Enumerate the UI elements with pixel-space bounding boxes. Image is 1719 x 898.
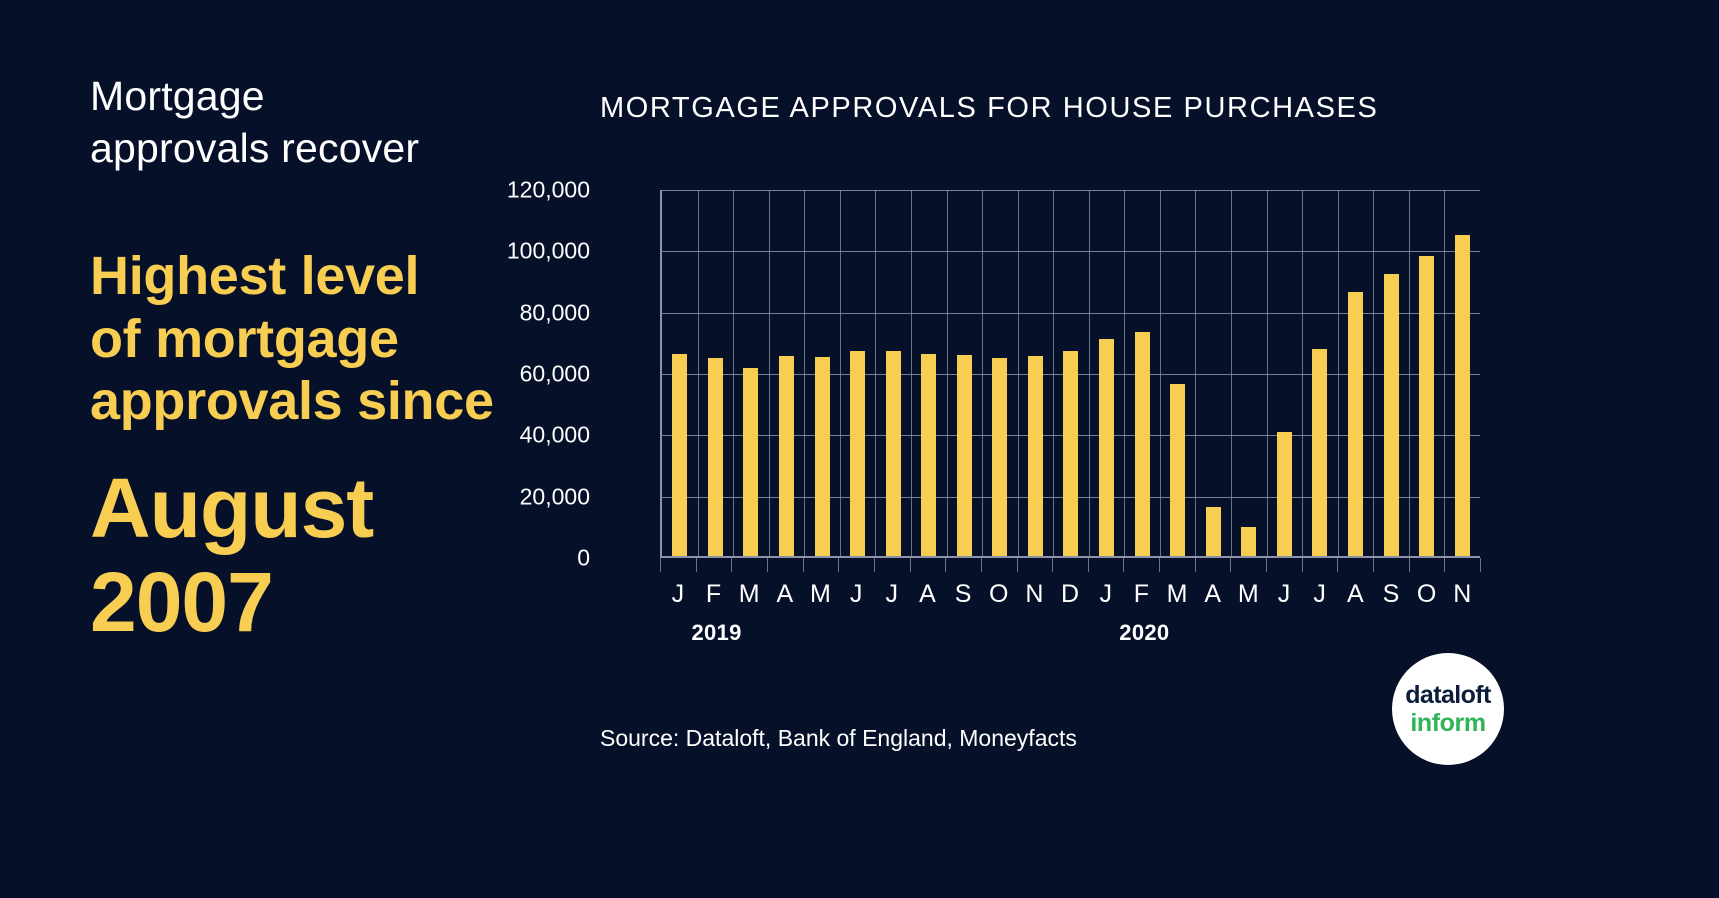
bar: [672, 354, 687, 556]
x-axis-year-label: 2020: [1119, 620, 1169, 646]
bar: [1241, 527, 1256, 556]
x-axis-month-label: D: [1052, 580, 1088, 614]
y-axis-tick-label: 40,000: [520, 422, 590, 449]
x-axis-month-label: S: [1373, 580, 1409, 614]
bar-slot: [1302, 190, 1338, 556]
bar: [992, 358, 1007, 556]
x-axis-tick: [1409, 558, 1410, 572]
x-axis-month-label: F: [696, 580, 732, 614]
x-axis-tick: [838, 558, 839, 572]
bar: [921, 354, 936, 556]
x-axis-tick: [1195, 558, 1196, 572]
infographic-root: Mortgage approvals recover Highest level…: [0, 0, 1719, 898]
kicker-line-1: Mortgage: [90, 70, 560, 122]
x-axis-month-label: A: [767, 580, 803, 614]
bar-slot: [769, 190, 805, 556]
x-axis-tick: [767, 558, 768, 572]
bar-slot: [982, 190, 1018, 556]
chart-plot-area: 120,000100,00080,00060,00040,00020,0000 …: [600, 190, 1480, 570]
x-axis-tick: [1266, 558, 1267, 572]
bar-slot: [875, 190, 911, 556]
x-axis-tick: [1480, 558, 1481, 572]
bar-slot: [1124, 190, 1160, 556]
x-axis-month-label: J: [660, 580, 696, 614]
bar-slot: [1231, 190, 1267, 556]
x-axis-month-label: J: [1088, 580, 1124, 614]
x-axis-year-labels: 20192020: [660, 620, 1480, 652]
x-axis-month-label: M: [1231, 580, 1267, 614]
bar-slot: [1409, 190, 1445, 556]
bar: [957, 355, 972, 556]
x-axis-tick: [1444, 558, 1445, 572]
bar: [1135, 332, 1150, 556]
y-axis-tick-label: 120,000: [507, 177, 590, 204]
bar-slot: [1267, 190, 1303, 556]
y-axis-tick-label: 60,000: [520, 361, 590, 388]
bar: [779, 356, 794, 556]
x-axis-month-label: M: [803, 580, 839, 614]
y-axis-tick-label: 0: [577, 545, 590, 572]
x-axis-month-label: O: [981, 580, 1017, 614]
bar: [1170, 384, 1185, 556]
x-axis-month-label: S: [945, 580, 981, 614]
bar-slot: [1018, 190, 1054, 556]
bar: [1099, 339, 1114, 556]
big-date-year: 2007: [90, 555, 560, 649]
dataloft-inform-logo: dataloft inform: [1392, 653, 1504, 765]
bar-slot: [804, 190, 840, 556]
x-axis-tick: [981, 558, 982, 572]
y-axis-tick-label: 20,000: [520, 483, 590, 510]
logo-wordmark-inform: inform: [1410, 711, 1485, 736]
bar: [1384, 274, 1399, 556]
x-axis-tick: [874, 558, 875, 572]
x-axis-tick: [803, 558, 804, 572]
x-axis-tick: [1052, 558, 1053, 572]
x-axis-month-label: J: [1302, 580, 1338, 614]
chart-title: MORTGAGE APPROVALS FOR HOUSE PURCHASES: [600, 92, 1378, 125]
x-axis-tick: [1337, 558, 1338, 572]
bar-slot: [1195, 190, 1231, 556]
source-note: Source: Dataloft, Bank of England, Money…: [600, 725, 1077, 752]
y-axis-tick-label: 80,000: [520, 299, 590, 326]
bar: [1348, 292, 1363, 556]
bar-slot: [1053, 190, 1089, 556]
x-axis-tick: [1373, 558, 1374, 572]
bar-slot: [662, 190, 698, 556]
bar-slot: [911, 190, 947, 556]
x-axis-month-label: M: [1159, 580, 1195, 614]
x-axis-month-label: N: [1017, 580, 1053, 614]
x-axis-tick: [1017, 558, 1018, 572]
bar: [1455, 235, 1470, 556]
x-axis-month-label: A: [1337, 580, 1373, 614]
x-axis-month-label: A: [910, 580, 946, 614]
bar-slot: [840, 190, 876, 556]
x-axis-tick: [731, 558, 732, 572]
bar: [708, 358, 723, 556]
bar-slot: [947, 190, 983, 556]
bar: [850, 351, 865, 556]
x-axis-tick: [1123, 558, 1124, 572]
x-axis-month-labels: JFMAMJJASONDJFMAMJJASON: [660, 580, 1480, 614]
x-axis-month-label: J: [1266, 580, 1302, 614]
bar-slot: [1338, 190, 1374, 556]
x-axis-month-label: A: [1195, 580, 1231, 614]
x-axis-tick: [1230, 558, 1231, 572]
bar-slot: [1089, 190, 1125, 556]
bar: [815, 357, 830, 556]
bar: [1312, 349, 1327, 556]
x-axis-month-label: M: [731, 580, 767, 614]
bar: [886, 351, 901, 556]
logo-wordmark-dataloft: dataloft: [1405, 683, 1490, 708]
bar: [1063, 351, 1078, 556]
kicker-text: Mortgage approvals recover: [90, 70, 560, 175]
kicker-line-2: approvals recover: [90, 122, 560, 174]
x-axis-year-label: 2019: [691, 620, 741, 646]
x-axis-tick: [696, 558, 697, 572]
bar: [1028, 356, 1043, 556]
x-axis-tick: [1159, 558, 1160, 572]
bar: [1206, 507, 1221, 556]
bar-slot: [698, 190, 734, 556]
x-axis-month-label: O: [1409, 580, 1445, 614]
plot-canvas: [660, 190, 1480, 558]
y-axis-labels: 120,000100,00080,00060,00040,00020,0000: [470, 190, 590, 558]
x-axis-month-label: J: [838, 580, 874, 614]
x-axis-month-label: N: [1444, 580, 1480, 614]
x-axis-month-label: F: [1124, 580, 1160, 614]
bar-slot: [733, 190, 769, 556]
bar: [1277, 432, 1292, 556]
bar-slot: [1373, 190, 1409, 556]
bar-series: [662, 190, 1480, 556]
bar-slot: [1444, 190, 1480, 556]
y-axis-tick-label: 100,000: [507, 238, 590, 265]
bar: [743, 368, 758, 556]
x-axis-tick: [660, 558, 661, 572]
x-axis-month-label: J: [874, 580, 910, 614]
x-axis-tick: [910, 558, 911, 572]
bar: [1419, 256, 1434, 556]
x-axis-tick: [1302, 558, 1303, 572]
x-axis-ticks: [660, 558, 1480, 572]
x-axis-tick: [1088, 558, 1089, 572]
x-axis-tick: [945, 558, 946, 572]
bar-slot: [1160, 190, 1196, 556]
